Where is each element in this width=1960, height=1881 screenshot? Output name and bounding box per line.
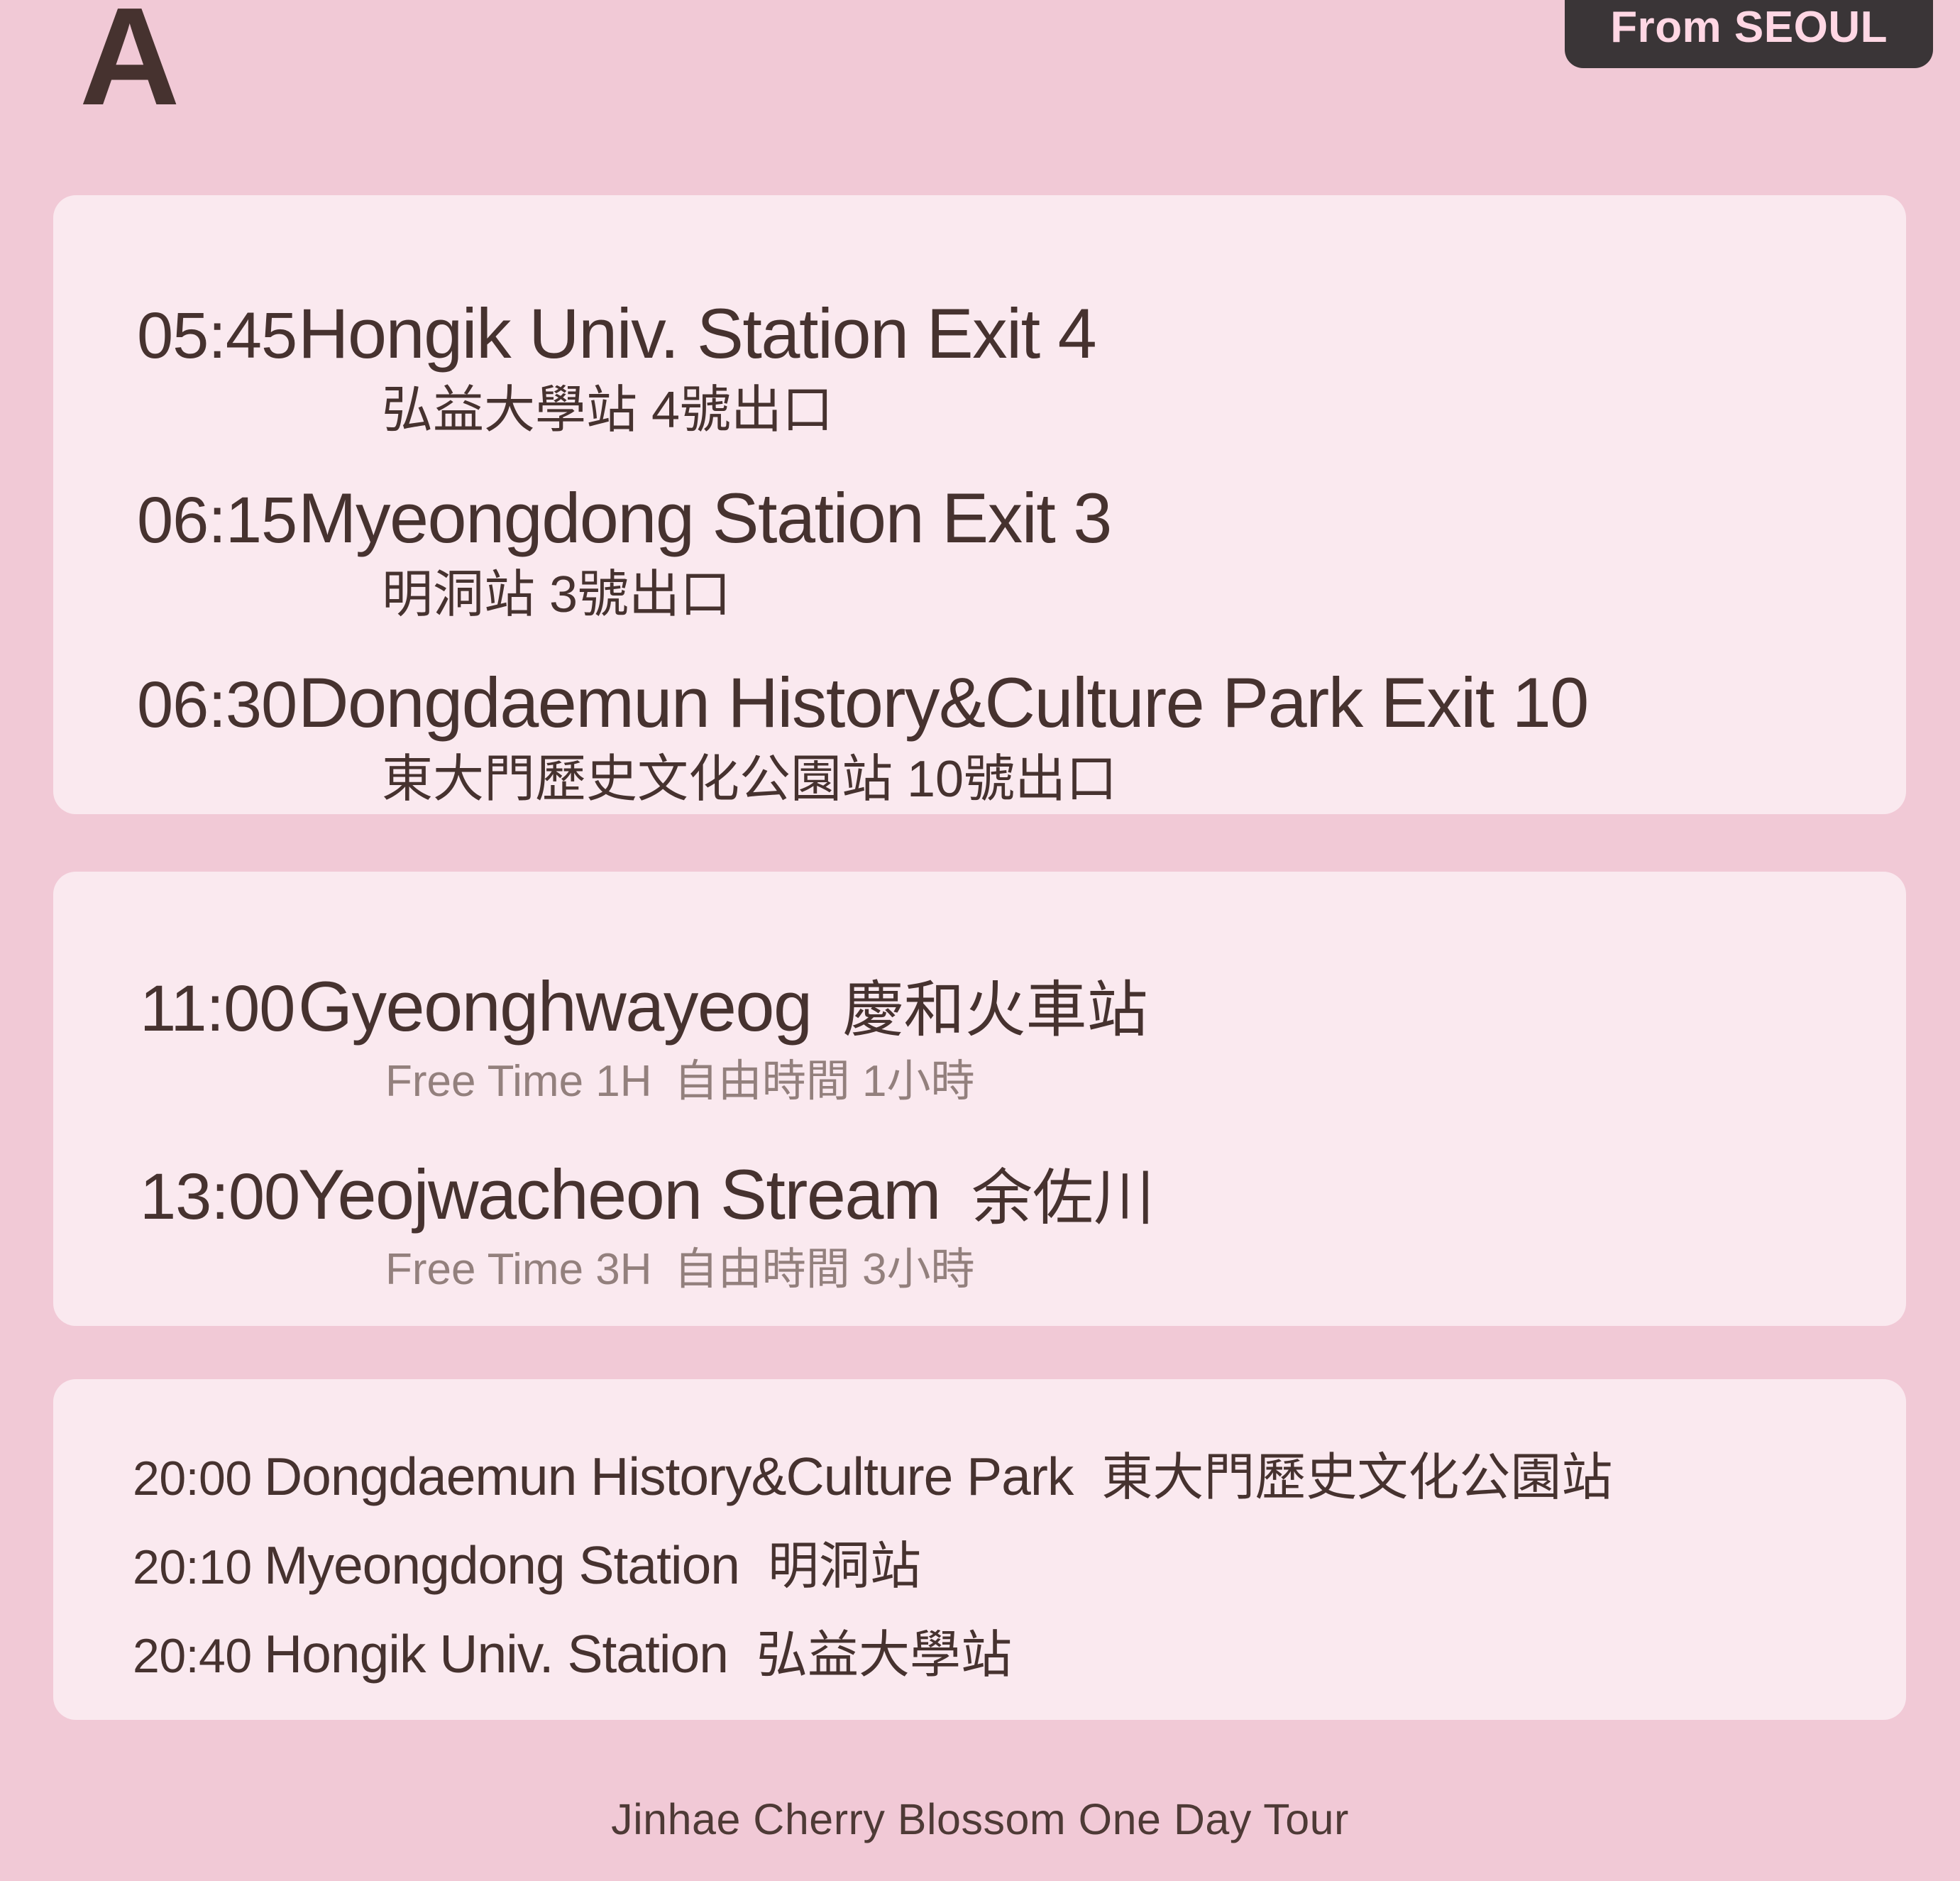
- itinerary-time: 13:00: [53, 1164, 298, 1229]
- departure-row: 06:15 Myeongdong Station Exit 3 明洞站 3號出口: [53, 483, 1906, 620]
- header: A From SEOUL: [0, 0, 1960, 183]
- itinerary-row-main: 13:00 Yeojwacheon Stream 余佐川: [53, 1159, 1906, 1229]
- itinerary-row-main: 11:00 Gyeonghwayeog 慶和火車站: [53, 971, 1906, 1041]
- return-time: 20:10: [53, 1543, 264, 1591]
- return-row: 20:40 Hongik Univ. Station 弘益大學站: [53, 1628, 1906, 1681]
- return-stop-name-en: Hongik Univ. Station: [264, 1628, 728, 1681]
- departure-row: 06:30 Dongdaemun History&Culture Park Ex…: [53, 667, 1906, 805]
- return-stop-name-cn: 弘益大學站: [728, 1630, 1012, 1681]
- return-row: 20:00 Dongdaemun History&Culture Park 東大…: [53, 1450, 1906, 1503]
- itinerary-free-time: Free Time 1H 自由時間 1小時: [385, 1060, 1906, 1104]
- itinerary-place-name-en: Yeojwacheon Stream: [298, 1159, 940, 1229]
- itinerary-free-time: Free Time 3H 自由時間 3小時: [385, 1248, 1906, 1292]
- return-stop-name-en: Myeongdong Station: [264, 1539, 739, 1592]
- itinerary-place-name-en: Gyeonghwayeog: [298, 971, 812, 1041]
- itinerary-free-time-en: Free Time 3H: [385, 1245, 652, 1294]
- itinerary-row: 11:00 Gyeonghwayeog 慶和火車站 Free Time 1H 自…: [53, 971, 1906, 1104]
- return-time: 20:00: [53, 1454, 264, 1503]
- itinerary-free-time-en: Free Time 1H: [385, 1057, 652, 1106]
- itinerary-place-name-cn: 慶和火車站: [812, 980, 1148, 1041]
- departure-time: 05:45: [53, 303, 298, 368]
- departure-stop-name-en: Dongdaemun History&Culture Park Exit 10: [298, 667, 1588, 737]
- itinerary-free-time-cn: 自由時間 1小時: [664, 1057, 975, 1106]
- return-card: 20:00 Dongdaemun History&Culture Park 東大…: [53, 1379, 1906, 1720]
- itinerary-free-time-cn: 自由時間 3小時: [664, 1245, 975, 1294]
- itinerary-time: 11:00: [53, 976, 298, 1041]
- itinerary-card: 11:00 Gyeonghwayeog 慶和火車站 Free Time 1H 自…: [53, 872, 1906, 1326]
- return-stop-name-cn: 明洞站: [739, 1541, 921, 1592]
- return-time: 20:40: [53, 1632, 264, 1680]
- departure-stop-name-cn: 弘益大學站 4號出口: [382, 385, 1906, 436]
- departure-row: 05:45 Hongik Univ. Station Exit 4 弘益大學站 …: [53, 298, 1906, 436]
- departure-stop-name-cn: 明洞站 3號出口: [382, 569, 1906, 620]
- tour-title-caption: Jinhae Cherry Blossom One Day Tour: [0, 1794, 1960, 1844]
- departure-time: 06:30: [53, 672, 298, 737]
- departure-time: 06:15: [53, 488, 298, 553]
- itinerary-place-name-cn: 余佐川: [940, 1168, 1155, 1229]
- departure-stop-name-en: Myeongdong Station Exit 3: [298, 483, 1111, 553]
- origin-badge: From SEOUL: [1565, 0, 1933, 68]
- departure-card: 05:45 Hongik Univ. Station Exit 4 弘益大學站 …: [53, 195, 1906, 814]
- return-row: 20:10 Myeongdong Station 明洞站: [53, 1539, 1906, 1592]
- departure-row-main: 05:45 Hongik Univ. Station Exit 4: [53, 298, 1906, 368]
- departure-stop-name-en: Hongik Univ. Station Exit 4: [298, 298, 1096, 368]
- return-stop-name-en: Dongdaemun History&Culture Park: [264, 1450, 1073, 1503]
- return-stop-name-cn: 東大門歷史文化公園站: [1073, 1452, 1612, 1503]
- departure-row-main: 06:15 Myeongdong Station Exit 3: [53, 483, 1906, 553]
- departure-row-main: 06:30 Dongdaemun History&Culture Park Ex…: [53, 667, 1906, 737]
- group-letter-badge: A: [79, 0, 177, 126]
- itinerary-row: 13:00 Yeojwacheon Stream 余佐川 Free Time 3…: [53, 1159, 1906, 1292]
- departure-stop-name-cn: 東大門歷史文化公園站 10號出口: [382, 754, 1906, 805]
